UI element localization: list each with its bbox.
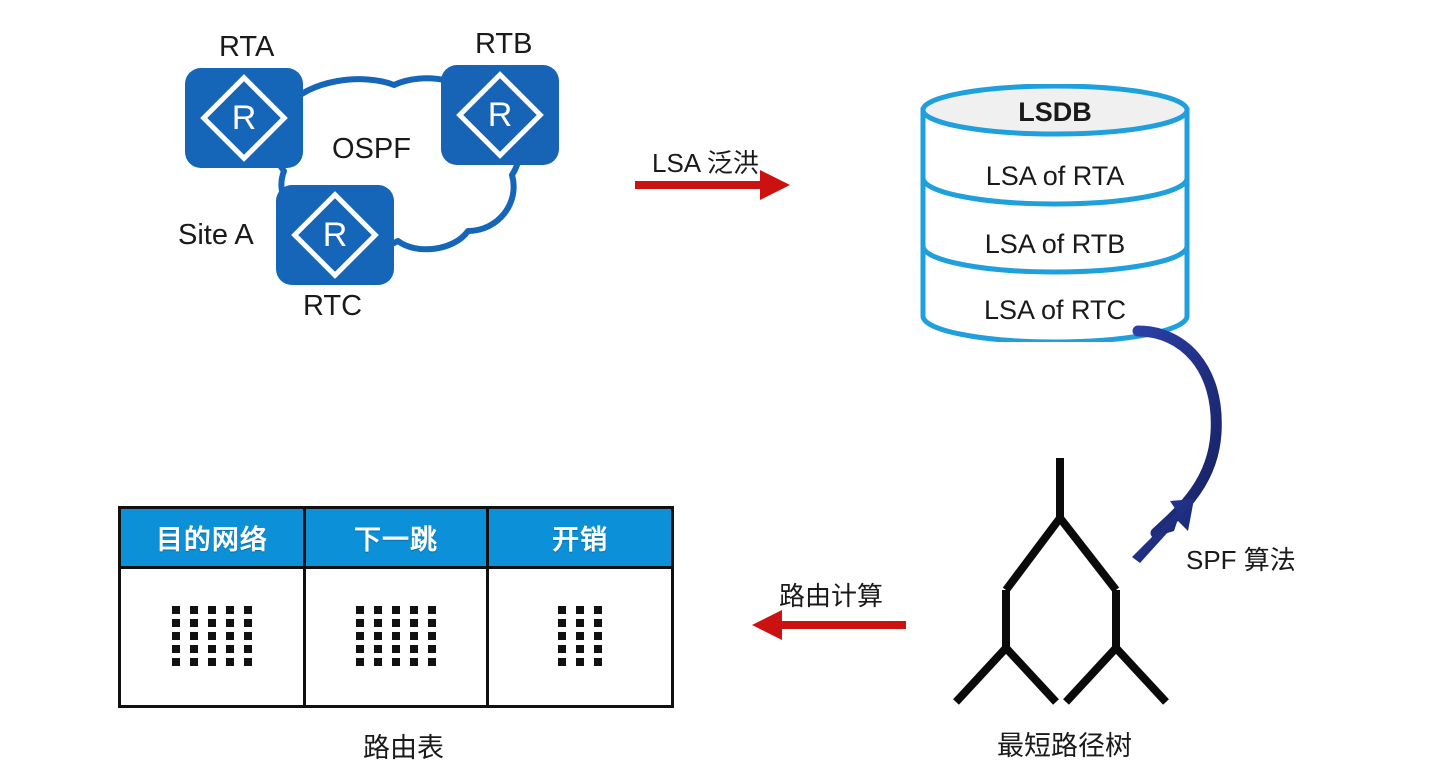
placeholder-dots-row <box>121 606 303 614</box>
spf-tree-caption: 最短路径树 <box>997 733 1132 760</box>
lsdb-entry-rtc: LSA of RTC <box>919 290 1191 330</box>
placeholder-dot <box>558 619 566 627</box>
placeholder-dot <box>576 619 584 627</box>
placeholder-dots-row <box>489 658 671 666</box>
routing-table-grid: 目的网络 下一跳 开销 <box>121 509 671 705</box>
placeholder-dot <box>374 619 382 627</box>
placeholder-dot <box>558 645 566 653</box>
placeholder-dot <box>190 619 198 627</box>
placeholder-dot <box>392 632 400 640</box>
placeholder-dot <box>374 632 382 640</box>
placeholder-dot <box>226 632 234 640</box>
placeholder-dot <box>356 658 364 666</box>
placeholder-dot <box>244 619 252 627</box>
placeholder-dot <box>410 619 418 627</box>
router-label-rtc: RTC <box>303 292 362 321</box>
placeholder-dots-row <box>306 645 486 653</box>
site-label: Site A <box>178 221 254 250</box>
placeholder-dot <box>410 606 418 614</box>
placeholder-dot <box>558 606 566 614</box>
placeholder-dots-row <box>489 645 671 653</box>
cell-destination[interactable] <box>121 567 304 705</box>
placeholder-dot <box>428 658 436 666</box>
placeholder-dot <box>190 606 198 614</box>
placeholder-dot <box>392 645 400 653</box>
cell-cost[interactable] <box>488 567 671 705</box>
placeholder-dot <box>392 658 400 666</box>
placeholder-dots-row <box>306 658 486 666</box>
placeholder-dots-row <box>306 619 486 627</box>
placeholder-dot <box>208 658 216 666</box>
placeholder-dot <box>594 619 602 627</box>
placeholder-dot <box>594 632 602 640</box>
placeholder-dot <box>392 606 400 614</box>
placeholder-dot <box>594 658 602 666</box>
placeholder-dot <box>374 606 382 614</box>
placeholder-dots-row <box>489 606 671 614</box>
placeholder-dot <box>208 606 216 614</box>
routing-table-caption: 路由表 <box>363 735 444 762</box>
placeholder-dot <box>190 658 198 666</box>
placeholder-dot <box>244 658 252 666</box>
routing-table[interactable]: 目的网络 下一跳 开销 <box>118 506 674 708</box>
placeholder-dot <box>172 606 180 614</box>
router-node-rtb[interactable]: R <box>441 65 559 165</box>
router-label-rtb: RTB <box>475 30 532 59</box>
placeholder-dot <box>428 632 436 640</box>
column-header-destination[interactable]: 目的网络 <box>121 509 304 567</box>
placeholder-dot <box>226 645 234 653</box>
placeholder-dot <box>558 632 566 640</box>
placeholder-dot <box>244 606 252 614</box>
placeholder-dot <box>208 632 216 640</box>
placeholder-dot <box>208 619 216 627</box>
placeholder-dot <box>190 632 198 640</box>
placeholder-dots-row <box>489 632 671 640</box>
placeholder-dot <box>576 606 584 614</box>
placeholder-dot <box>410 658 418 666</box>
router-glyph-rta: R <box>185 68 303 168</box>
placeholder-dot <box>356 606 364 614</box>
placeholder-dot <box>226 619 234 627</box>
router-label-rta: RTA <box>219 33 274 62</box>
placeholder-dot <box>244 632 252 640</box>
spf-algorithm-label: SPF 算法 <box>1186 547 1296 573</box>
placeholder-dot <box>594 645 602 653</box>
diagram-canvas: RTA R RTB R R RTC OSPF Site A LSA 泛洪 <box>0 0 1432 777</box>
placeholder-dot <box>244 645 252 653</box>
spf-tree-icon <box>930 450 1190 710</box>
router-glyph-rtc: R <box>276 185 394 285</box>
router-glyph-rtb: R <box>441 65 559 165</box>
placeholder-dots-row <box>121 645 303 653</box>
placeholder-dot <box>190 645 198 653</box>
placeholder-dot <box>172 632 180 640</box>
placeholder-dot <box>374 658 382 666</box>
placeholder-dot <box>226 658 234 666</box>
placeholder-dot <box>428 606 436 614</box>
placeholder-dot <box>208 645 216 653</box>
placeholder-dot <box>576 658 584 666</box>
placeholder-dot <box>356 632 364 640</box>
placeholder-dot <box>410 632 418 640</box>
lsdb-cylinder: LSDB LSA of RTA LSA of RTB LSA of RTC <box>919 84 1191 342</box>
placeholder-dots-row <box>121 632 303 640</box>
lsdb-title: LSDB <box>919 92 1191 132</box>
placeholder-dot <box>356 619 364 627</box>
placeholder-dot <box>576 632 584 640</box>
placeholder-dots-row <box>306 632 486 640</box>
column-header-nexthop[interactable]: 下一跳 <box>304 509 487 567</box>
placeholder-dot <box>172 645 180 653</box>
placeholder-dot <box>558 658 566 666</box>
router-node-rta[interactable]: R <box>185 68 303 168</box>
lsa-flooding-arrow-icon <box>632 165 797 205</box>
placeholder-dots-row <box>306 606 486 614</box>
cell-nexthop[interactable] <box>304 567 487 705</box>
lsdb-entry-rtb: LSA of RTB <box>919 224 1191 264</box>
placeholder-dot <box>428 645 436 653</box>
column-header-cost[interactable]: 开销 <box>488 509 671 567</box>
placeholder-dots-row <box>489 619 671 627</box>
placeholder-dot <box>410 645 418 653</box>
placeholder-dot <box>172 619 180 627</box>
router-node-rtc[interactable]: R <box>276 185 394 285</box>
route-calculation-arrow-icon <box>746 605 911 645</box>
placeholder-dot <box>226 606 234 614</box>
ospf-cloud-label: OSPF <box>332 135 411 164</box>
placeholder-dot <box>594 606 602 614</box>
routing-table-header-row: 目的网络 下一跳 开销 <box>121 509 671 567</box>
placeholder-dot <box>428 619 436 627</box>
placeholder-dot <box>374 645 382 653</box>
placeholder-dot <box>392 619 400 627</box>
placeholder-dot <box>172 658 180 666</box>
placeholder-dot <box>356 645 364 653</box>
routing-table-body-row <box>121 567 671 705</box>
placeholder-dots-row <box>121 658 303 666</box>
lsdb-entry-rta: LSA of RTA <box>919 156 1191 196</box>
placeholder-dots-row <box>121 619 303 627</box>
placeholder-dot <box>576 645 584 653</box>
